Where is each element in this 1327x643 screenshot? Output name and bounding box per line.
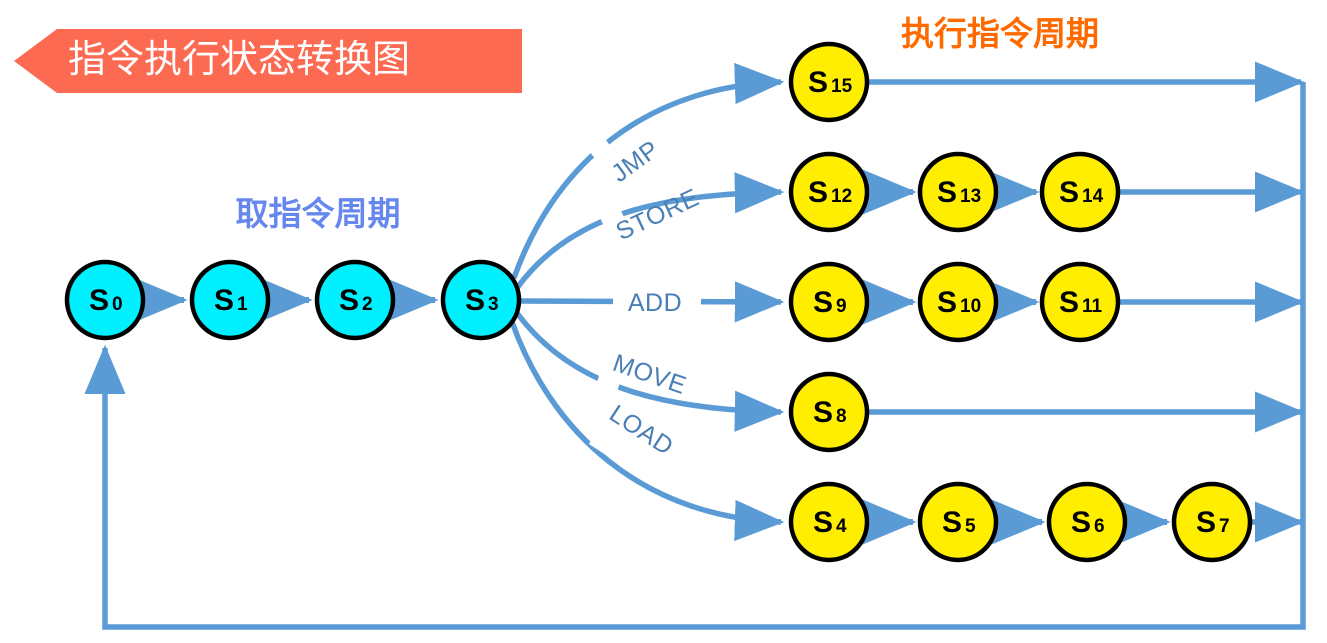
node-s10-label: S [937, 286, 957, 319]
node-s4-subscript: 4 [836, 516, 847, 537]
node-s12-circle[interactable] [791, 154, 867, 230]
node-s1[interactable]: S 1 [192, 262, 268, 338]
edge-label-add: ADD [628, 289, 682, 317]
node-s12-label: S [808, 176, 828, 209]
edge-label-move: MOVE [609, 349, 690, 400]
edge-label-store: STORE [612, 183, 704, 246]
node-s11-label: S [1059, 286, 1079, 319]
exec-chain-edges [867, 192, 1167, 522]
node-s2[interactable]: S 2 [317, 262, 393, 338]
node-s10[interactable]: S 10 [920, 264, 996, 340]
node-s14[interactable]: S 14 [1042, 154, 1118, 230]
node-s10-circle[interactable] [920, 264, 996, 340]
diagram-canvas: 指令执行状态转换图 取指令周期 执行指令周期 [0, 0, 1327, 643]
node-s9-subscript: 9 [836, 296, 847, 317]
node-s3-subscript: 3 [488, 294, 499, 315]
node-s8[interactable]: S 8 [791, 374, 867, 450]
node-s5[interactable]: S 5 [920, 484, 996, 560]
node-s0-subscript: 0 [112, 294, 123, 315]
node-s4[interactable]: S 4 [791, 484, 867, 560]
node-s14-subscript: 14 [1082, 186, 1104, 207]
node-s7-label: S [1196, 506, 1216, 539]
node-s6-subscript: 6 [1094, 516, 1105, 537]
node-s15-label: S [808, 66, 828, 99]
node-s11-circle[interactable] [1042, 264, 1118, 340]
node-s9-label: S [813, 286, 833, 319]
node-s3-label: S [465, 284, 485, 317]
node-s0[interactable]: S 0 [67, 262, 143, 338]
return-path-line [105, 82, 1303, 627]
node-s5-subscript: 5 [965, 516, 976, 537]
node-s4-label: S [813, 506, 833, 539]
node-s6[interactable]: S 6 [1049, 484, 1125, 560]
title-banner-text: 指令执行状态转换图 [68, 39, 410, 81]
node-s8-subscript: 8 [836, 406, 847, 427]
caption-fetch-cycle: 取指令周期 [236, 195, 401, 232]
node-s11-subscript: 11 [1082, 296, 1103, 317]
node-s14-circle[interactable] [1042, 154, 1118, 230]
node-s15[interactable]: S 15 [791, 44, 867, 120]
node-s12-subscript: 12 [831, 186, 852, 207]
node-s13-label: S [937, 176, 957, 209]
node-s15-subscript: 15 [831, 76, 853, 97]
node-s13-circle[interactable] [920, 154, 996, 230]
node-s5-label: S [942, 506, 962, 539]
node-s2-label: S [339, 284, 359, 317]
node-s11[interactable]: S 11 [1042, 264, 1118, 340]
node-s15-circle[interactable] [791, 44, 867, 120]
node-s14-label: S [1059, 176, 1079, 209]
node-s13-subscript: 13 [960, 186, 981, 207]
title-banner: 指令执行状态转换图 [14, 29, 522, 93]
node-s7-subscript: 7 [1219, 516, 1230, 537]
state-transition-diagram: 指令执行状态转换图 取指令周期 执行指令周期 [0, 0, 1327, 643]
node-s6-label: S [1071, 506, 1091, 539]
node-s1-label: S [214, 284, 234, 317]
edge-label-jmp: JMP [606, 135, 664, 188]
node-s3[interactable]: S 3 [443, 262, 519, 338]
node-s0-label: S [89, 284, 109, 317]
node-s2-subscript: 2 [362, 294, 373, 315]
node-s9[interactable]: S 9 [791, 264, 867, 340]
node-s1-subscript: 1 [237, 294, 248, 315]
node-s7[interactable]: S 7 [1174, 484, 1250, 560]
caption-execute-cycle: 执行指令周期 [901, 15, 1099, 52]
return-path [105, 82, 1303, 627]
node-s10-subscript: 10 [960, 296, 981, 317]
node-s8-label: S [813, 396, 833, 429]
node-s12[interactable]: S 12 [791, 154, 867, 230]
node-s13[interactable]: S 13 [920, 154, 996, 230]
